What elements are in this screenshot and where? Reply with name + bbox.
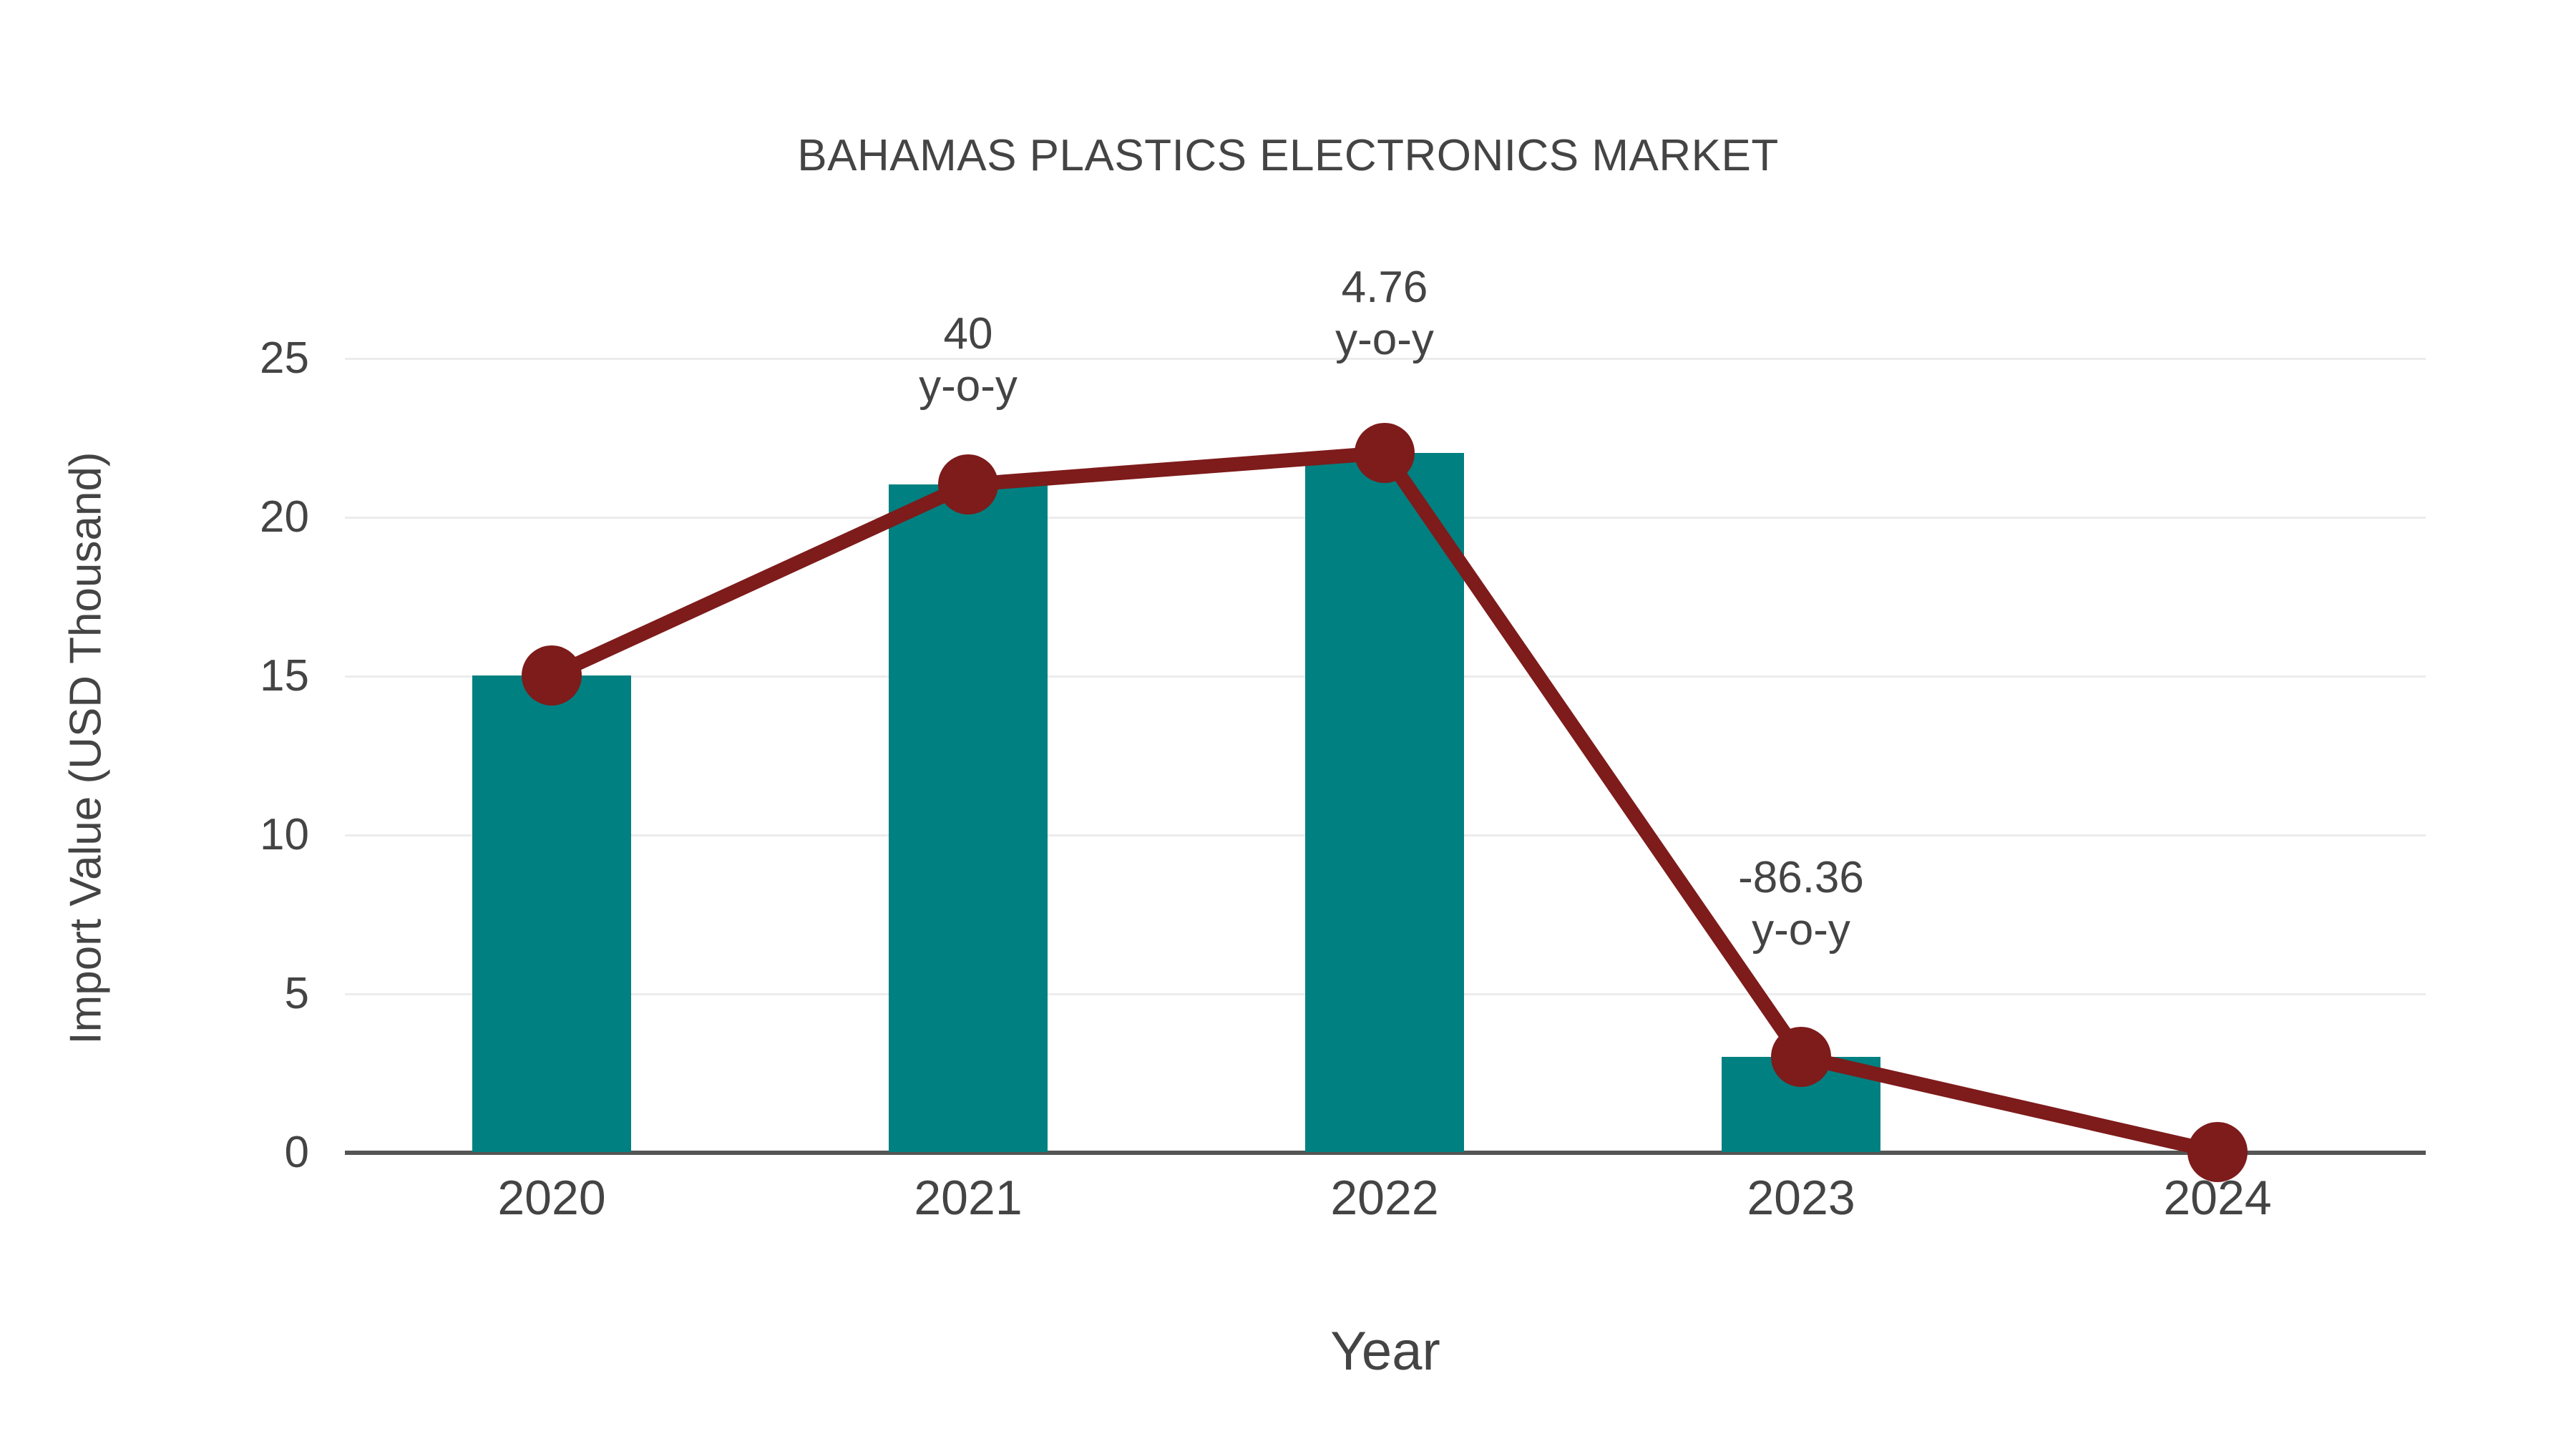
x-tick-label-2021: 2021 xyxy=(825,1174,1111,1222)
bar-2022[interactable] xyxy=(1305,453,1464,1152)
y-tick-label-10: 10 xyxy=(9,813,309,857)
x-tick-label-2022: 2022 xyxy=(1241,1174,1528,1222)
bar-2021[interactable] xyxy=(889,484,1048,1152)
annotation-2022: 4.76 y-o-y xyxy=(1199,261,1571,366)
x-tick-label-2020: 2020 xyxy=(409,1174,695,1222)
annotation-2023: -86.36 y-o-y xyxy=(1615,852,1987,956)
annotation-2023-unit: y-o-y xyxy=(1615,904,1987,956)
x-axis-title: Year xyxy=(345,1320,2426,1382)
y-tick-label-5: 5 xyxy=(9,972,309,1016)
y-tick-label-15: 15 xyxy=(9,654,309,698)
annotation-2023-value: -86.36 xyxy=(1615,852,1987,904)
annotation-2022-unit: y-o-y xyxy=(1199,313,1571,366)
chart-canvas: BAHAMAS PLASTICS ELECTRONICS MARKET Impo… xyxy=(0,0,2576,1449)
annotation-2021-value: 40 xyxy=(782,308,1154,360)
chart-title: BAHAMAS PLASTICS ELECTRONICS MARKET xyxy=(0,130,2576,181)
y-tick-label-0: 0 xyxy=(9,1131,309,1175)
annotation-2021-unit: y-o-y xyxy=(782,360,1154,412)
x-tick-label-2023: 2023 xyxy=(1658,1174,1944,1222)
x-tick-label-2024: 2024 xyxy=(2074,1174,2361,1222)
bar-2020[interactable] xyxy=(472,675,631,1152)
bar-2023[interactable] xyxy=(1722,1057,1880,1152)
annotation-2022-value: 4.76 xyxy=(1199,261,1571,313)
annotation-2021: 40 y-o-y xyxy=(782,308,1154,412)
y-tick-label-20: 20 xyxy=(9,495,309,540)
y-axis-title: Import Value (USD Thousand) xyxy=(61,355,112,1142)
y-tick-label-25: 25 xyxy=(9,336,309,381)
